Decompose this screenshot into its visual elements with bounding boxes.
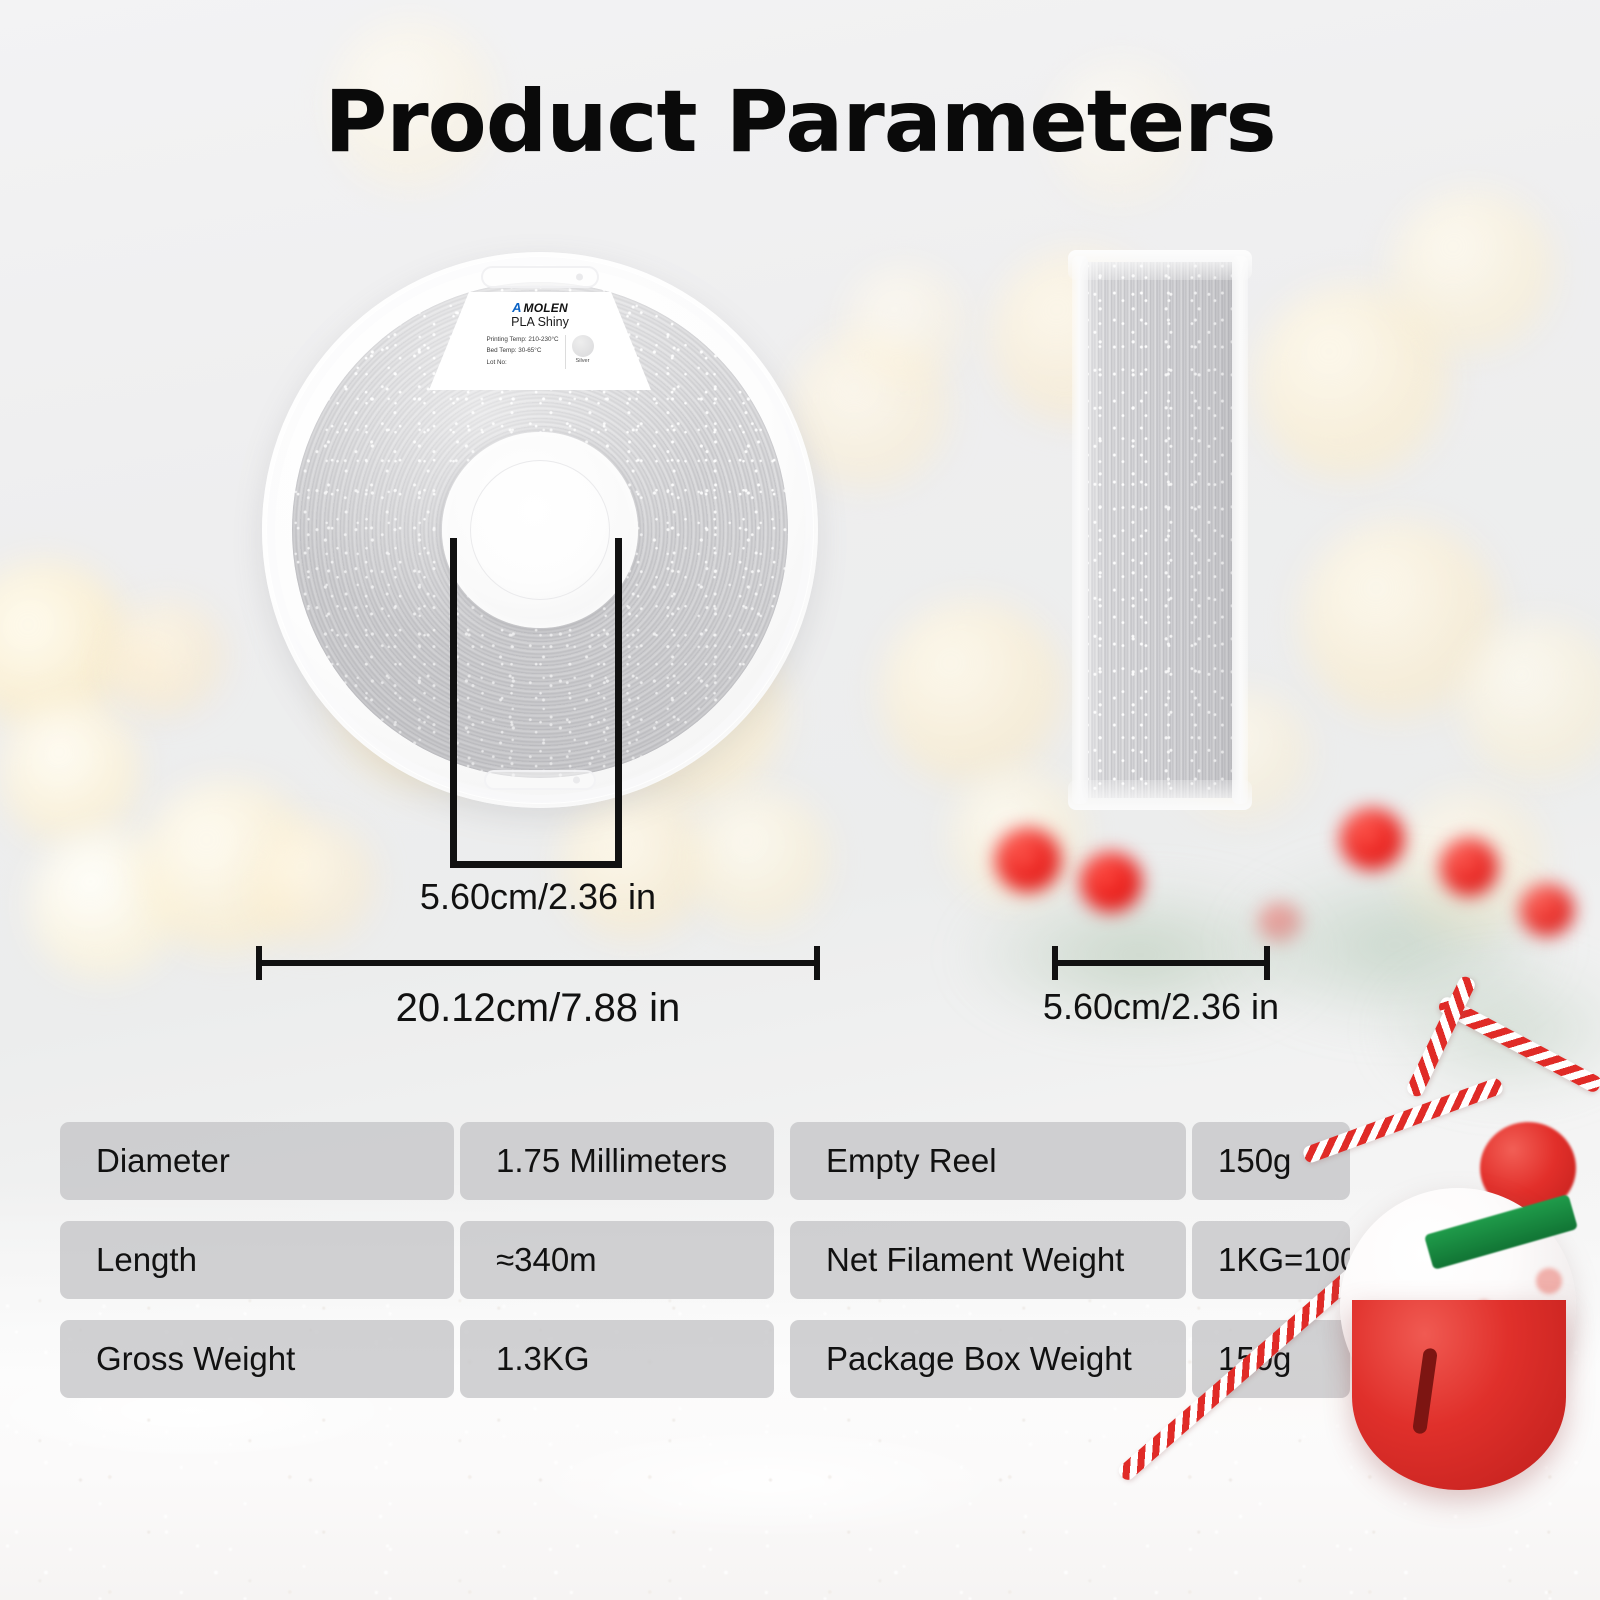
spec-key: Gross Weight [60, 1320, 454, 1398]
page-title: Product Parameters [0, 72, 1600, 172]
spec-key: Length [60, 1221, 454, 1299]
spec-key: Package Box Weight [790, 1320, 1186, 1398]
bracket-line [450, 861, 622, 868]
spec-value: ≈340m [460, 1221, 774, 1299]
spec-key: Net Filament Weight [790, 1221, 1186, 1299]
berry [1340, 808, 1404, 870]
filament-spool-side-view [1072, 256, 1248, 804]
label-printing-temp: Printing Temp: 210-230°C [486, 334, 558, 346]
filament-shading-side [1082, 262, 1238, 798]
dimension-bracket-hub-diameter [450, 538, 622, 868]
spec-key: Empty Reel [790, 1122, 1186, 1200]
spec-value: 1.3KG [460, 1320, 774, 1398]
bokeh-light [1460, 620, 1600, 780]
brand-logo: A MOLEN [439, 300, 641, 315]
bokeh-light [880, 600, 1065, 785]
spec-key: Diameter [60, 1122, 454, 1200]
table-row: Gross Weight 1.3KG Package Box Weight 15… [60, 1320, 1350, 1398]
bokeh-light [0, 700, 140, 845]
bokeh-light [690, 790, 830, 930]
bracket-line [256, 960, 820, 966]
berry [1258, 902, 1302, 942]
dimension-bracket-spool-width [1052, 946, 1270, 980]
label-body: Printing Temp: 210-230°C Bed Temp: 30-65… [439, 334, 641, 369]
label-divider [565, 335, 566, 369]
table-row: Diameter 1.75 Millimeters Empty Reel 150… [60, 1122, 1350, 1200]
spool-cap-bottom [1068, 780, 1252, 810]
bracket-line [1052, 960, 1270, 966]
handle-hole [576, 274, 583, 281]
specification-table: Diameter 1.75 Millimeters Empty Reel 150… [60, 1122, 1350, 1419]
bracket-tick [1052, 946, 1058, 980]
bracket-tick [256, 946, 262, 980]
berry [1440, 838, 1498, 896]
bell-speckle [1536, 1268, 1562, 1294]
bracket-line [615, 538, 622, 868]
label-bed-temp: Bed Temp: 30-65°C [486, 345, 558, 357]
bokeh-light [105, 630, 200, 725]
bracket-tick [814, 946, 820, 980]
spec-pair-left: Length ≈340m [60, 1221, 774, 1299]
christmas-bell-ornament [1180, 1000, 1600, 1600]
spec-pair-left: Gross Weight 1.3KG [60, 1320, 774, 1398]
bell-lower-body [1352, 1300, 1566, 1490]
color-swatch [572, 335, 594, 357]
dimension-bracket-outer-diameter [256, 946, 820, 980]
brand-name: MOLEN [524, 302, 568, 314]
bokeh-light [845, 265, 965, 385]
berry [1520, 884, 1574, 936]
berry [1080, 852, 1142, 912]
spool-handle-top [481, 266, 599, 288]
dimension-label-outer-diameter: 20.12cm/7.88 in [256, 986, 820, 1031]
product-parameters-infographic: Product Parameters A MOLEN PLA Shiny [0, 0, 1600, 1600]
spec-value: 1.75 Millimeters [460, 1122, 774, 1200]
label-spec-list: Printing Temp: 210-230°C Bed Temp: 30-65… [486, 334, 558, 369]
label-lot-no: Lot No: [486, 357, 558, 369]
brand-mark-icon: A [512, 301, 521, 314]
bracket-tick [1264, 946, 1270, 980]
color-swatch-label: Silver [572, 358, 594, 364]
berry [995, 828, 1061, 892]
ornament-cord [1301, 1077, 1504, 1165]
spec-pair-left: Diameter 1.75 Millimeters [60, 1122, 774, 1200]
bracket-line [450, 538, 457, 868]
bokeh-light [1390, 190, 1555, 355]
spool-flange-right [1232, 256, 1248, 804]
label-product-name: PLA Shiny [439, 316, 641, 330]
spool-flange-left [1072, 256, 1088, 804]
dimension-label-hub-diameter: 5.60cm/2.36 in [395, 876, 681, 918]
color-swatch-group: Silver [572, 334, 594, 364]
table-row: Length ≈340m Net Filament Weight 1KG=100… [60, 1221, 1350, 1299]
bokeh-light [250, 820, 375, 945]
spool-cap-top [1068, 250, 1252, 280]
